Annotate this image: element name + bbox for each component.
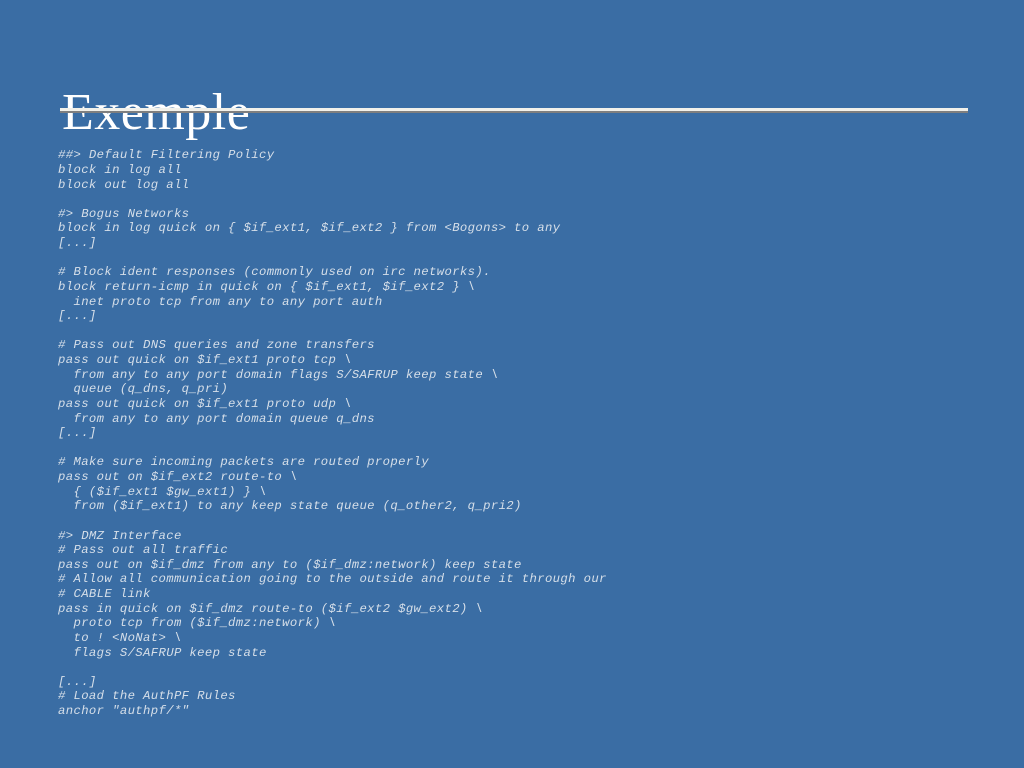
code-line: [...] [58,309,988,324]
code-line: queue (q_dns, q_pri) [58,382,988,397]
code-line: [...] [58,236,988,251]
code-line: from any to any port domain flags S/SAFR… [58,368,988,383]
code-line: pass out quick on $if_ext1 proto tcp \ [58,353,988,368]
code-line: flags S/SAFRUP keep state [58,646,988,661]
slide: Exemple ##> Default Filtering Policybloc… [0,0,1024,768]
code-line: inet proto tcp from any to any port auth [58,295,988,310]
code-line: pass out on $if_dmz from any to ($if_dmz… [58,558,988,573]
code-line: { ($if_ext1 $gw_ext1) } \ [58,485,988,500]
code-line: block in log quick on { $if_ext1, $if_ex… [58,221,988,236]
code-line: from any to any port domain queue q_dns [58,412,988,427]
code-line: block in log all [58,163,988,178]
title-divider [60,108,968,113]
code-line: pass out on $if_ext2 route-to \ [58,470,988,485]
code-line: # Pass out all traffic [58,543,988,558]
code-line: ##> Default Filtering Policy [58,148,988,163]
code-line-blank [58,324,988,339]
code-line: # Pass out DNS queries and zone transfer… [58,338,988,353]
code-block: ##> Default Filtering Policyblock in log… [58,148,988,718]
code-line-blank [58,192,988,207]
code-line: to ! <NoNat> \ [58,631,988,646]
code-line: #> DMZ Interface [58,529,988,544]
code-line: [...] [58,426,988,441]
code-line: pass in quick on $if_dmz route-to ($if_e… [58,602,988,617]
code-line: proto tcp from ($if_dmz:network) \ [58,616,988,631]
code-line: anchor "authpf/*" [58,704,988,719]
code-line: from ($if_ext1) to any keep state queue … [58,499,988,514]
code-line-blank [58,251,988,266]
code-line: # CABLE link [58,587,988,602]
code-line: # Load the AuthPF Rules [58,689,988,704]
divider-dark-line [60,111,968,113]
code-line: [...] [58,675,988,690]
code-line: # Allow all communication going to the o… [58,572,988,587]
code-line: block return-icmp in quick on { $if_ext1… [58,280,988,295]
code-line: block out log all [58,178,988,193]
code-line: # Make sure incoming packets are routed … [58,455,988,470]
code-line-blank [58,660,988,675]
code-line-blank [58,514,988,529]
code-line: # Block ident responses (commonly used o… [58,265,988,280]
code-line-blank [58,441,988,456]
code-line: pass out quick on $if_ext1 proto udp \ [58,397,988,412]
code-line: #> Bogus Networks [58,207,988,222]
